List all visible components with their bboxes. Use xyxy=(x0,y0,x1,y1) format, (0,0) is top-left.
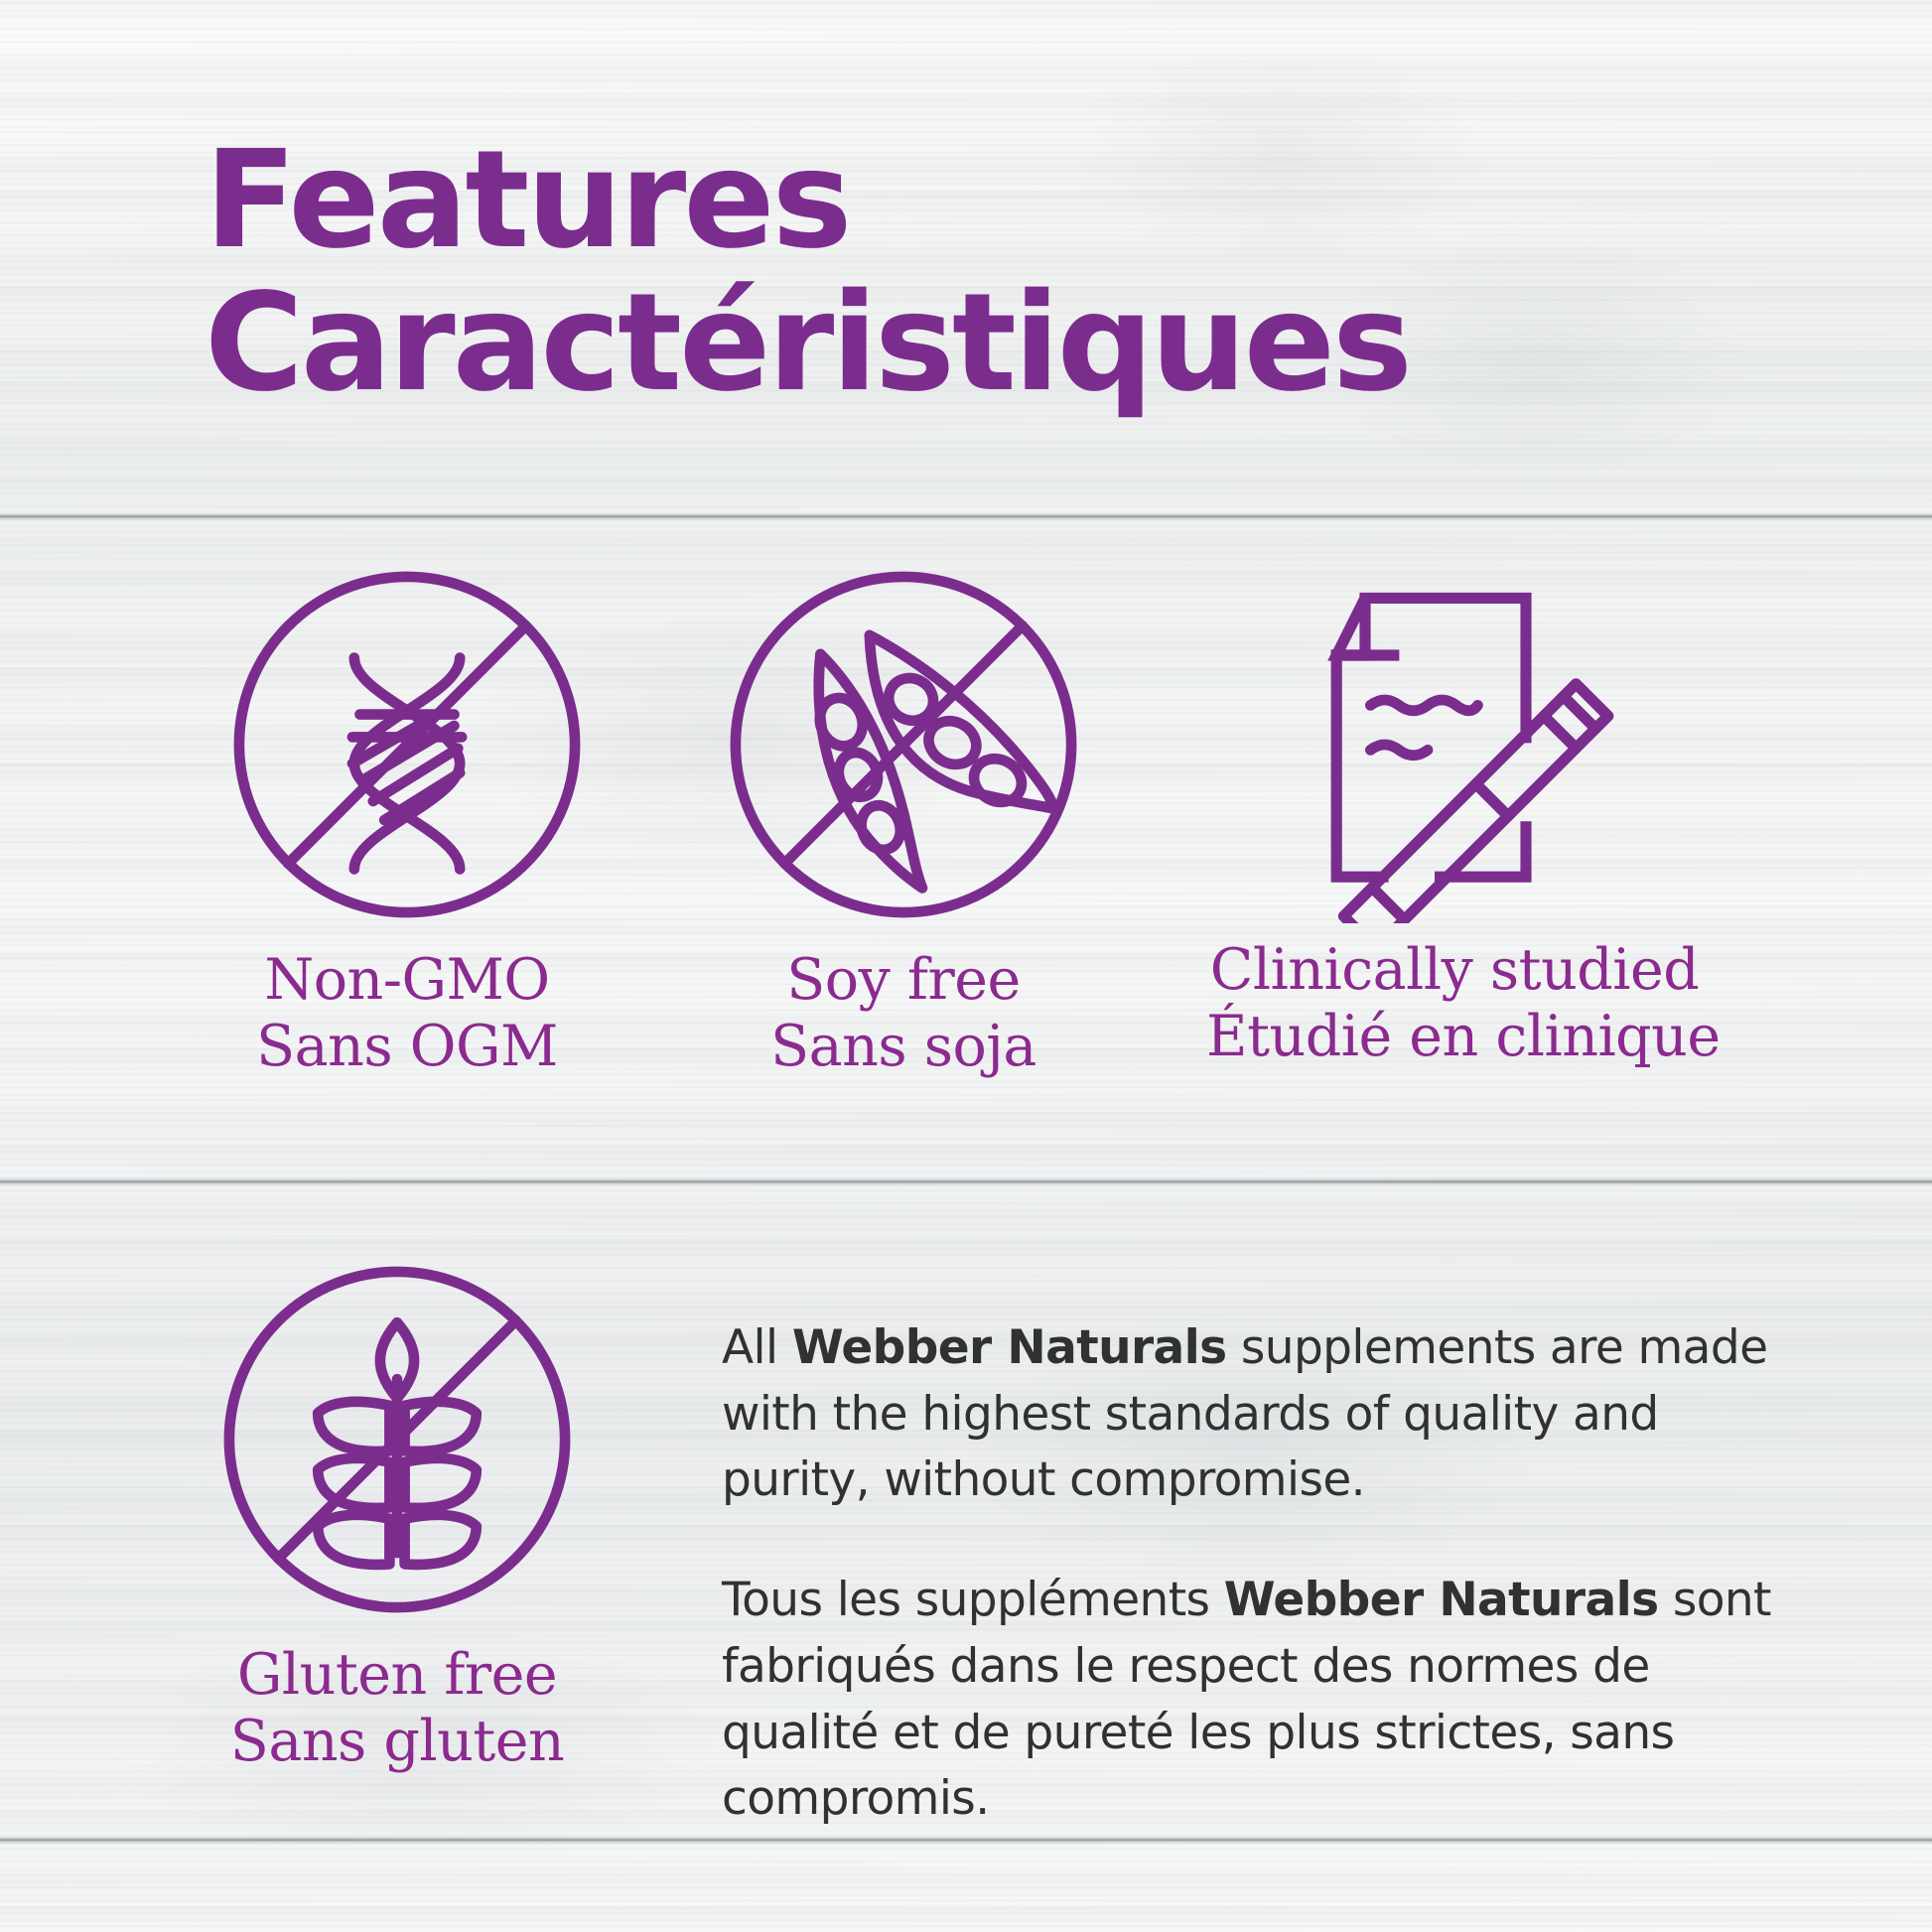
clipboard-pen-icon xyxy=(1276,566,1633,923)
plank-seam xyxy=(0,512,1932,521)
dna-no-symbol-icon xyxy=(218,556,596,933)
feature-label-fr: Sans OGM xyxy=(89,1014,725,1080)
copy-en-before: All xyxy=(722,1320,792,1375)
body-copy-en: All Webber Naturals supplements are made… xyxy=(722,1315,1774,1514)
plank-seam xyxy=(0,1836,1932,1845)
feature-label-soy-free: Soy free Sans soja xyxy=(655,947,1152,1081)
feature-label-en: Non-GMO xyxy=(89,947,725,1014)
pea-pod-no-symbol-icon xyxy=(715,556,1092,933)
feature-label-en: Soy free xyxy=(655,947,1152,1014)
feature-label-clinically-studied: Clinically studied Étudié en clinique xyxy=(1206,937,1703,1071)
body-copy: All Webber Naturals supplements are made… xyxy=(722,1315,1774,1833)
feature-gluten-free: Gluten free Sans gluten xyxy=(79,1251,715,1776)
plank-seam xyxy=(0,1177,1932,1186)
feature-non-gmo: Non-GMO Sans OGM xyxy=(89,556,725,1081)
feature-clinically-studied: Clinically studied Étudié en clinique xyxy=(1206,566,1703,1071)
wheat-no-symbol-icon xyxy=(208,1251,586,1628)
page-title: Features Caractéristiques xyxy=(205,125,1410,420)
feature-label-fr: Sans soja xyxy=(655,1014,1152,1080)
page-title-line-fr: Caractéristiques xyxy=(205,268,1410,419)
feature-label-fr: Sans gluten xyxy=(79,1709,715,1775)
feature-soy-free: Soy free Sans soja xyxy=(655,556,1152,1081)
feature-label-fr: Étudié en clinique xyxy=(1206,1004,1703,1070)
body-copy-fr: Tous les suppléments Webber Naturals son… xyxy=(722,1568,1774,1833)
page-title-line-en: Features xyxy=(205,122,850,279)
brand-name-fr: Webber Naturals xyxy=(1224,1573,1659,1627)
feature-label-en: Gluten free xyxy=(79,1642,715,1709)
feature-label-en: Clinically studied xyxy=(1206,937,1703,1004)
feature-label-non-gmo: Non-GMO Sans OGM xyxy=(89,947,725,1081)
copy-fr-before: Tous les suppléments xyxy=(722,1573,1224,1627)
feature-panel: Features Caractéristiques Non-GMO xyxy=(0,0,1932,1932)
brand-name-en: Webber Naturals xyxy=(792,1320,1227,1375)
feature-label-gluten-free: Gluten free Sans gluten xyxy=(79,1642,715,1776)
